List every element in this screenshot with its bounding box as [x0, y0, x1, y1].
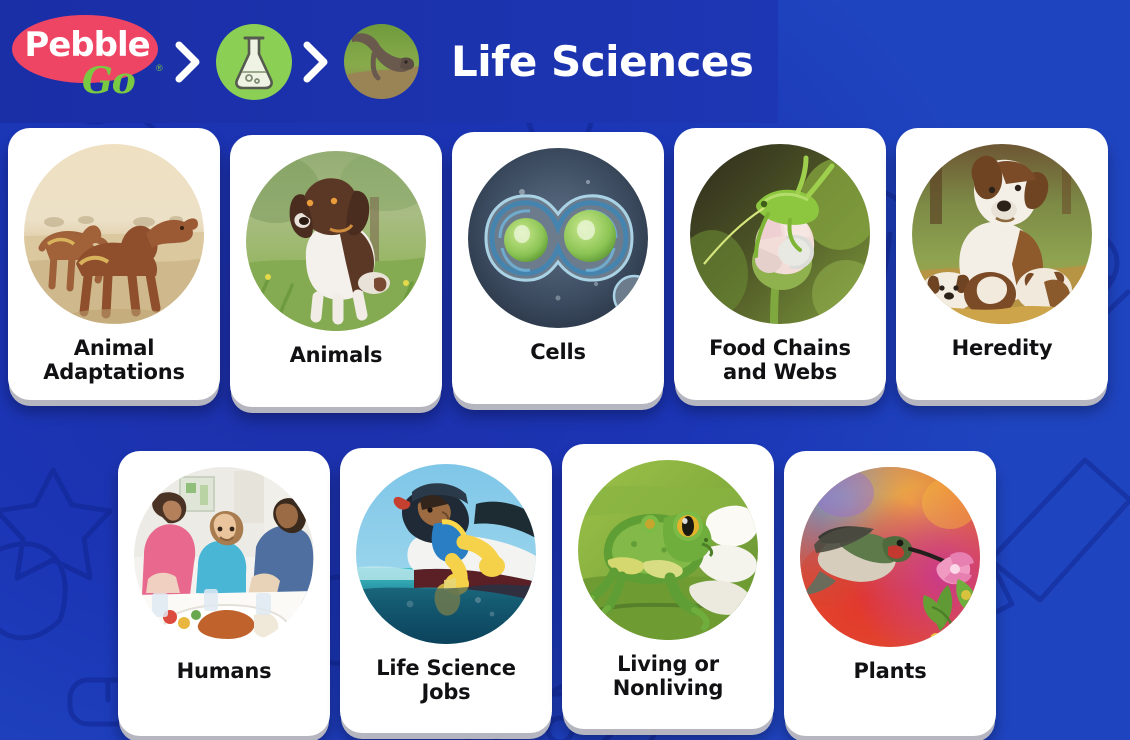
family-eating-dinner-image — [134, 467, 314, 647]
topic-card-animal-adaptations[interactable]: Animal Adaptations — [8, 128, 220, 400]
topic-row-2: Humans — [118, 444, 996, 736]
topic-card-animals[interactable]: Animals — [230, 135, 442, 407]
saint-bernard-with-puppies-image — [912, 144, 1092, 324]
breadcrumb-science-flask-icon[interactable] — [216, 24, 292, 100]
chevron-right-icon-2 — [292, 41, 340, 83]
breadcrumb-header: Pebble Go ® — [0, 0, 778, 123]
scientist-water-sampling-image — [356, 464, 536, 644]
pebblego-logo[interactable]: Pebble Go ® — [8, 9, 164, 114]
chevron-right-icon-1 — [164, 41, 212, 83]
topic-card-humans[interactable]: Humans — [118, 451, 330, 736]
logo-go-text: Go — [82, 61, 135, 101]
card-label: Food Chains and Webs — [682, 336, 878, 384]
breadcrumb-anteater-photo[interactable] — [344, 24, 419, 99]
logo-trademark: ® — [156, 63, 163, 73]
topic-card-plants[interactable]: Plants — [784, 451, 996, 736]
spaniel-dog-in-grass-image — [246, 151, 426, 331]
card-label: Animal Adaptations — [16, 336, 212, 384]
card-label: Plants — [792, 659, 988, 683]
topic-card-food-chains-and-webs[interactable]: Food Chains and Webs — [674, 128, 886, 400]
dividing-cells-mitosis-image — [468, 148, 648, 328]
pebblego-life-sciences-page: Pebble Go ® — [0, 0, 1130, 740]
card-label: Animals — [238, 343, 434, 367]
card-label: Heredity — [904, 336, 1100, 360]
topic-card-heredity[interactable]: Heredity — [896, 128, 1108, 400]
frog-on-lily-pad-image — [578, 460, 758, 640]
page-title: Life Sciences — [451, 37, 753, 86]
topic-card-living-or-nonliving[interactable]: Living or Nonliving — [562, 444, 774, 729]
topic-row-1: Animal Adaptations — [8, 128, 1108, 407]
camels-in-desert-image — [24, 144, 204, 324]
card-label: Living or Nonliving — [570, 652, 766, 700]
katydid-on-clover-flower-image — [690, 144, 870, 324]
card-label: Humans — [126, 659, 322, 683]
card-label: Cells — [460, 340, 656, 364]
topic-card-cells[interactable]: Cells — [452, 132, 664, 404]
hummingbird-at-flower-image — [800, 467, 980, 647]
topic-card-life-science-jobs[interactable]: Life Science Jobs — [340, 448, 552, 733]
card-label: Life Science Jobs — [348, 656, 544, 704]
